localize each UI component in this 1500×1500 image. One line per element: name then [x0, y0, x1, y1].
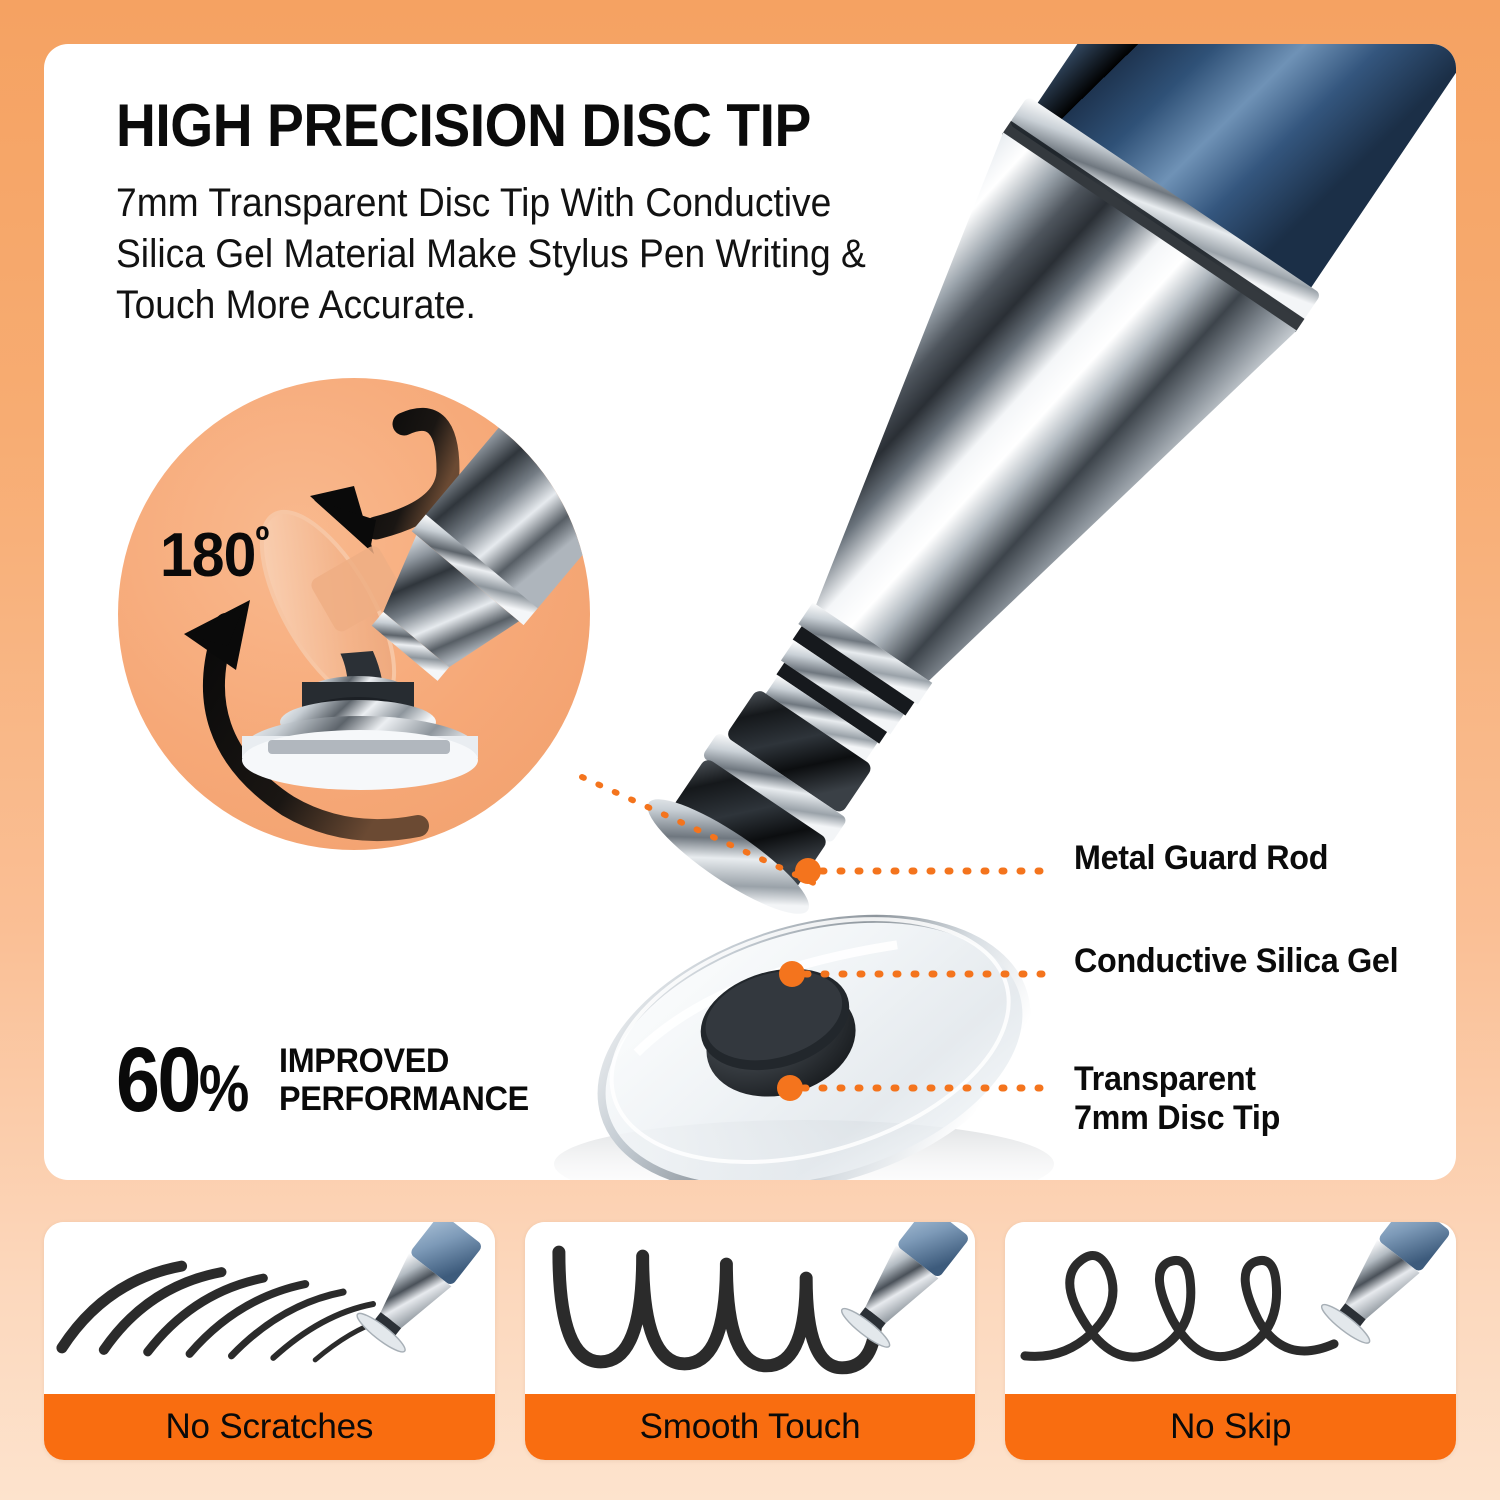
- leader-dot-gel: [779, 961, 805, 987]
- rotation-inset-circle: 180º: [118, 378, 590, 850]
- feature-card-label-no-skip: No Skip: [1005, 1394, 1456, 1460]
- infographic-page: HIGH PRECISION DISC TIP 7mm Transparent …: [0, 0, 1500, 1500]
- feature-card-label-smooth-touch: Smooth Touch: [525, 1394, 976, 1460]
- callout-conductive-silica-gel: Conductive Silica Gel: [1074, 942, 1398, 981]
- cursive-loops-icon: [1005, 1222, 1456, 1394]
- feature-card-no-scratches[interactable]: No Scratches: [44, 1222, 495, 1460]
- performance-percentage: 60%: [116, 1039, 248, 1122]
- headline-block: HIGH PRECISION DISC TIP 7mm Transparent …: [116, 94, 966, 331]
- rotation-angle-value: 180: [160, 521, 255, 590]
- main-feature-panel: HIGH PRECISION DISC TIP 7mm Transparent …: [44, 44, 1456, 1180]
- leader-dot-rod: [795, 858, 821, 884]
- callout-transparent-disc-tip: Transparent 7mm Disc Tip: [1074, 1060, 1280, 1138]
- callout-metal-guard-rod: Metal Guard Rod: [1074, 839, 1328, 878]
- performance-badge: 60% IMPROVED PERFORMANCE: [116, 1039, 542, 1122]
- leader-line-inset: [582, 777, 816, 884]
- page-title: HIGH PRECISION DISC TIP: [116, 94, 898, 158]
- feature-card-no-skip[interactable]: No Skip: [1005, 1222, 1456, 1460]
- performance-caption-line1: IMPROVED: [279, 1042, 529, 1080]
- performance-value: 60: [116, 1039, 199, 1122]
- feature-card-smooth-touch[interactable]: Smooth Touch: [525, 1222, 976, 1460]
- percent-symbol-icon: %: [199, 1059, 248, 1118]
- page-subtitle: 7mm Transparent Disc Tip With Conductive…: [116, 178, 907, 332]
- feature-card-row: No Scratches: [44, 1222, 1456, 1460]
- leader-dot-disc: [777, 1075, 803, 1101]
- zigzag-wave-icon: [525, 1222, 976, 1394]
- scratch-strokes-icon: [44, 1222, 495, 1394]
- performance-caption: IMPROVED PERFORMANCE: [279, 1042, 529, 1119]
- feature-card-label-no-scratches: No Scratches: [44, 1394, 495, 1460]
- rotation-angle-label: 180º: [160, 520, 268, 591]
- degree-symbol-icon: º: [255, 519, 268, 563]
- performance-caption-line2: PERFORMANCE: [279, 1080, 529, 1118]
